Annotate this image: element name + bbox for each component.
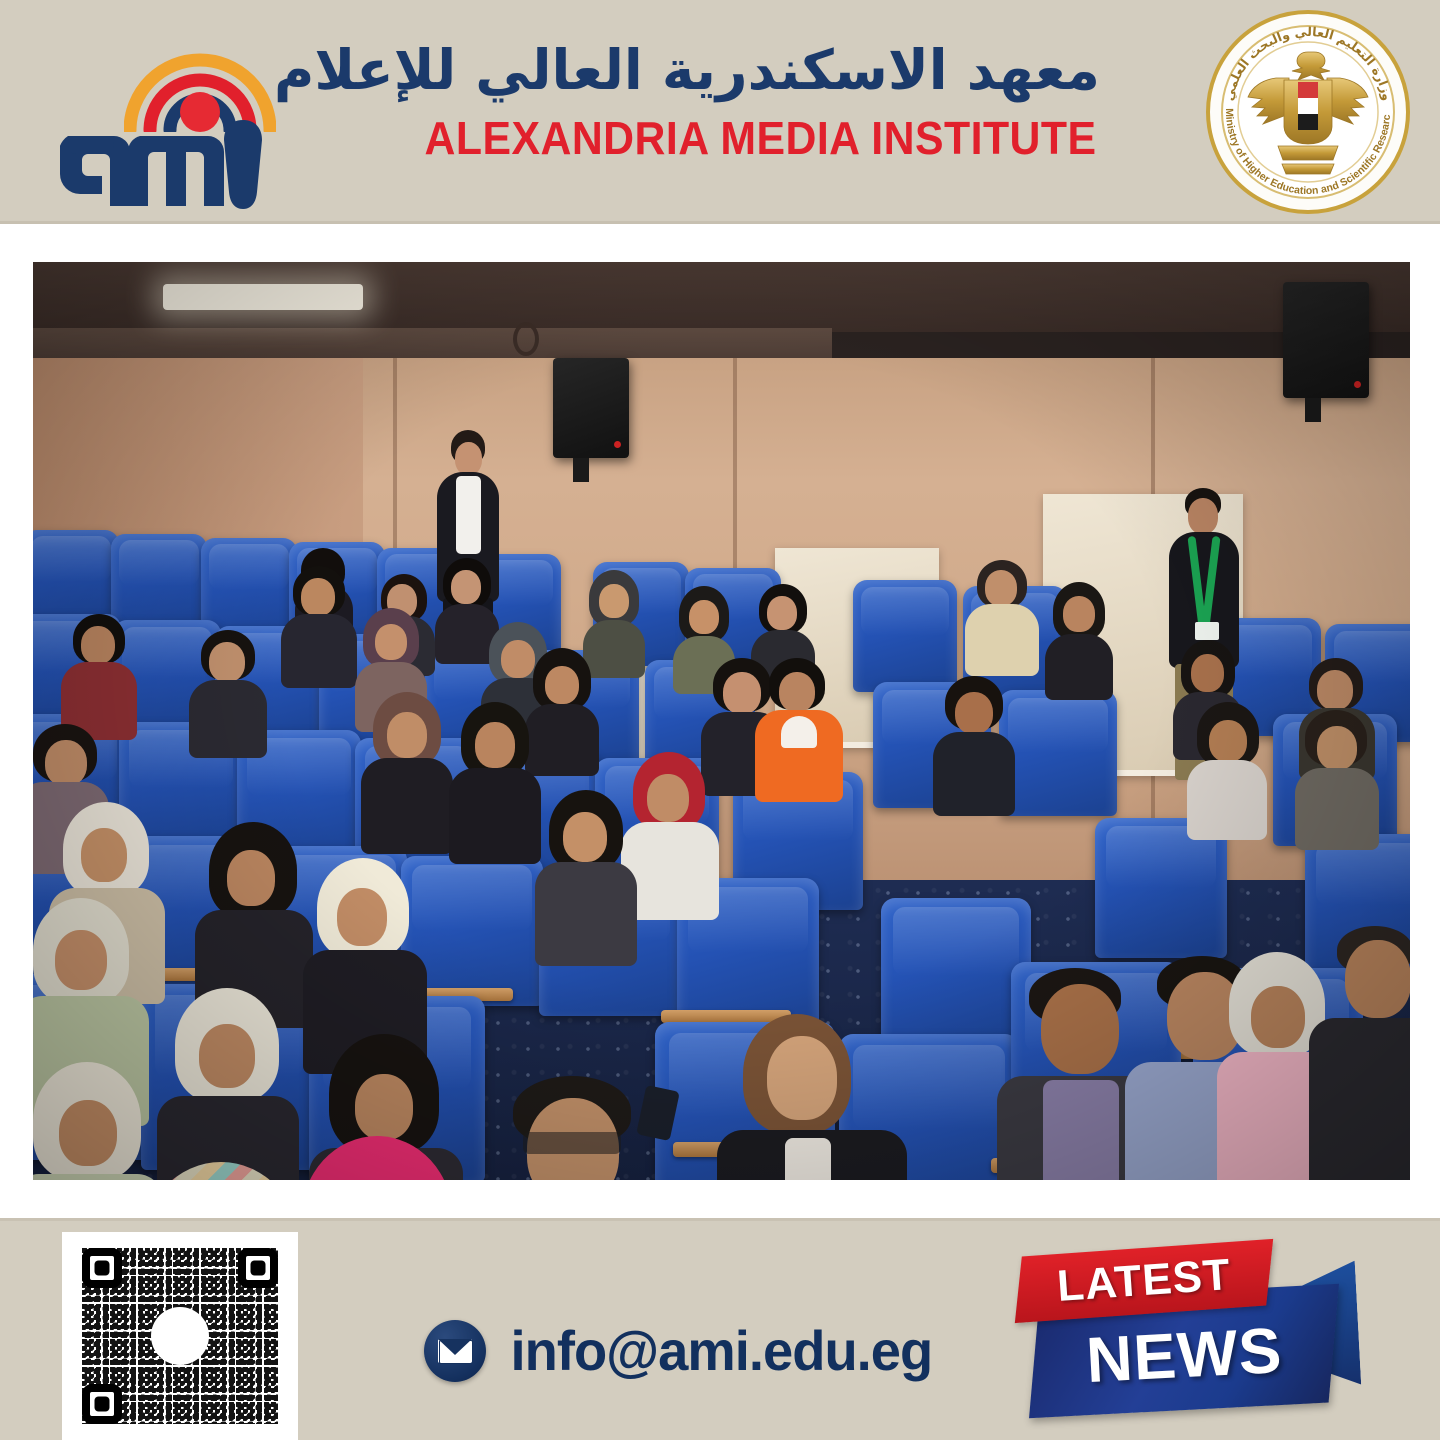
institute-title-arabic: معهد الاسكندرية العالي للإعلام [400,36,1100,105]
qr-code[interactable] [62,1232,298,1440]
qr-matrix [82,1248,278,1424]
poster-root: معهد الاسكندرية العالي للإعلام ALEXANDRI… [0,0,1440,1440]
ami-wordmark [60,86,275,211]
email-address-text: info@ami.edu.eg [511,1318,933,1383]
ami-logo [32,8,282,216]
qr-finder-bottom-left [82,1384,122,1424]
photo-vignette [33,262,1410,1180]
qr-center-hole [151,1307,209,1365]
latest-news-badge: NEWS LATEST [1012,1248,1356,1426]
header-band: معهد الاسكندرية العالي للإعلام ALEXANDRI… [0,0,1440,224]
envelope-icon [424,1320,486,1382]
institute-title-block: معهد الاسكندرية العالي للإعلام ALEXANDRI… [400,36,1100,165]
contact-email[interactable]: info@ami.edu.eg [424,1318,939,1383]
institute-title-english: ALEXANDRIA MEDIA INSTITUTE [425,111,1076,165]
qr-finder-top-right [238,1248,278,1288]
photo-scene [33,262,1410,1180]
ministry-seal-icon: وزارة التعليم العالي والبحث العلمي Minis… [1204,8,1412,216]
event-photo [33,262,1410,1180]
qr-finder-top-left [82,1248,122,1288]
